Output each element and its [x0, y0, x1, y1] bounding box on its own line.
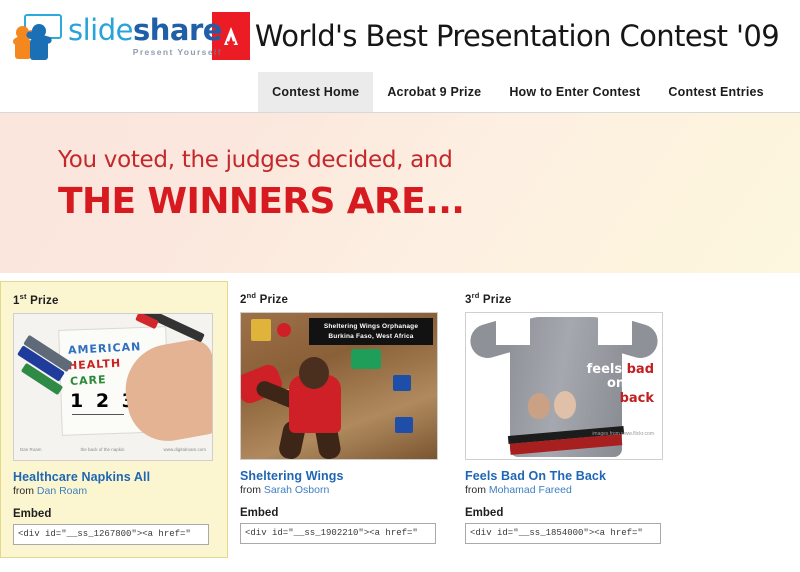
embed-input-second[interactable]: <div id="__ss_1902210"><a href=": [240, 523, 436, 544]
tab-contest-home[interactable]: Contest Home: [258, 72, 373, 112]
slideshare-wordmark: slideshare Present Yourself: [68, 16, 222, 57]
winner-card-third-prize: 3rd Prize feels bad on the back images f…: [453, 281, 678, 558]
embed-label-third: Embed: [465, 507, 666, 519]
thumb1-word2: HEALTH: [68, 356, 122, 372]
thumb2-caption-line2: Burkina Faso, West Africa: [314, 332, 428, 342]
winner-byline-third: from Mohamad Fareed: [465, 484, 666, 496]
page-header: slideshare Present Yourself World's Best…: [0, 0, 800, 72]
from-label-second: from: [240, 484, 261, 496]
thumb2-caption-line1: Sheltering Wings Orphanage: [314, 322, 428, 332]
prize-label-second: 2nd Prize: [240, 291, 441, 306]
prize-ordinal-first: st: [20, 292, 27, 301]
winner-card-first-prize: 1st Prize AMERICAN HEALTH CARE 1 2 3 4 D…: [0, 281, 228, 558]
thumb3-text: feels bad on the back: [587, 363, 654, 407]
brand-name-part1: slide: [68, 13, 133, 47]
thumb1-word3: CARE: [70, 373, 107, 388]
thumb3-line2: bad: [627, 362, 654, 377]
main-nav: Contest Home Acrobat 9 Prize How to Ente…: [0, 72, 800, 112]
banner-subtitle: You voted, the judges decided, and: [58, 147, 800, 173]
winner-author-first[interactable]: Dan Roam: [37, 485, 87, 497]
brand-tagline: Present Yourself: [68, 48, 222, 57]
winner-thumbnail-second[interactable]: Sheltering Wings Orphanage Burkina Faso,…: [240, 312, 438, 460]
winner-title-third[interactable]: Feels Bad On The Back: [465, 469, 666, 483]
embed-label-first: Embed: [13, 508, 215, 520]
prize-ordinal-second: nd: [247, 291, 257, 300]
winner-thumbnail-first[interactable]: AMERICAN HEALTH CARE 1 2 3 4 Dan Roamthe…: [13, 313, 213, 461]
tab-how-to-enter-contest[interactable]: How to Enter Contest: [495, 72, 654, 112]
tab-contest-entries[interactable]: Contest Entries: [654, 72, 777, 112]
brand-name-part2: share: [133, 13, 222, 47]
winner-byline-first: from Dan Roam: [13, 485, 215, 497]
winner-thumbnail-third[interactable]: feels bad on the back images from www.fl…: [465, 312, 663, 460]
winner-author-third[interactable]: Mohamad Fareed: [489, 484, 572, 496]
prize-rank-third: 3: [465, 294, 472, 306]
prize-label-first: 1st Prize: [13, 292, 215, 307]
thumb2-caption: Sheltering Wings Orphanage Burkina Faso,…: [309, 318, 433, 346]
winner-title-second[interactable]: Sheltering Wings: [240, 469, 441, 483]
winner-card-second-prize: 2nd Prize Sheltering Wings Orphanage Bur…: [228, 281, 453, 558]
from-label-first: from: [13, 485, 34, 497]
winner-author-second[interactable]: Sarah Osborn: [264, 484, 329, 496]
thumb3-line4: back: [587, 392, 654, 407]
embed-label-second: Embed: [240, 507, 441, 519]
thumb3-line1: feels: [587, 362, 622, 377]
from-label-third: from: [465, 484, 486, 496]
banner-headline: THE WINNERS ARE...: [58, 181, 800, 222]
thumb3-line3: on the: [587, 377, 654, 392]
slideshare-logo-icon: [10, 12, 64, 60]
prize-rank-first: 1: [13, 295, 20, 307]
winners-list: 1st Prize AMERICAN HEALTH CARE 1 2 3 4 D…: [0, 273, 800, 558]
prize-word-second: Prize: [260, 294, 289, 306]
winner-title-first[interactable]: Healthcare Napkins All: [13, 470, 215, 484]
prize-ordinal-third: rd: [472, 291, 480, 300]
tab-acrobat-9-prize[interactable]: Acrobat 9 Prize: [373, 72, 495, 112]
embed-input-third[interactable]: <div id="__ss_1854000"><a href=": [465, 523, 661, 544]
slideshare-logo[interactable]: slideshare Present Yourself: [10, 10, 190, 62]
thumb3-credit: images from www.flickr.com: [592, 431, 654, 437]
page-title: World's Best Presentation Contest '09: [250, 19, 800, 53]
prize-word-third: Prize: [483, 294, 512, 306]
prize-label-third: 3rd Prize: [465, 291, 666, 306]
prize-word-first: Prize: [30, 295, 59, 307]
winner-byline-second: from Sarah Osborn: [240, 484, 441, 496]
embed-input-first[interactable]: <div id="__ss_1267800"><a href=": [13, 524, 209, 545]
prize-rank-second: 2: [240, 294, 247, 306]
winners-banner: You voted, the judges decided, and THE W…: [0, 113, 800, 273]
